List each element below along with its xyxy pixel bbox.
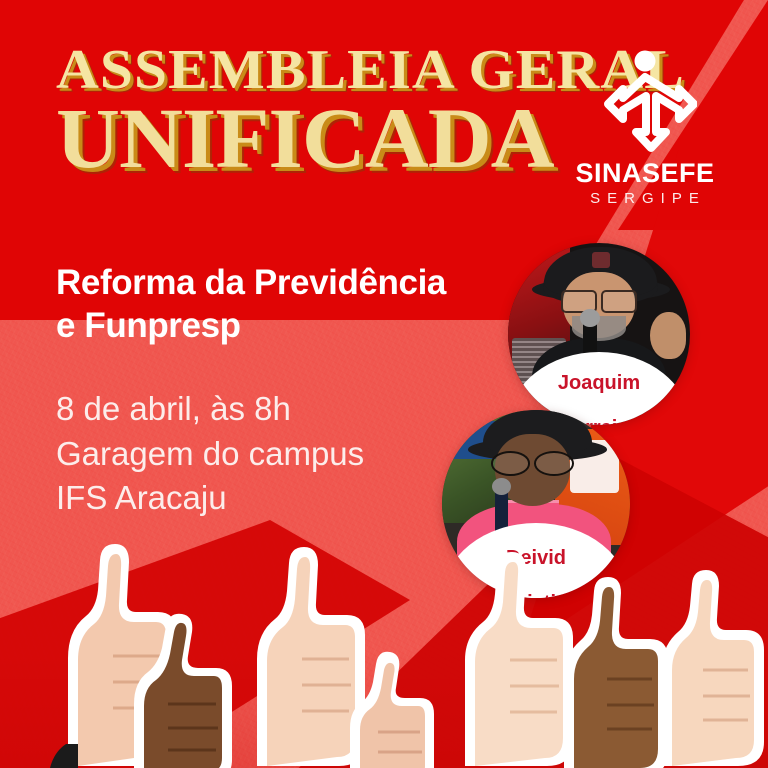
detail-campus: IFS Aracaju (56, 476, 486, 520)
speaker-first-name: Joaquim (558, 372, 640, 394)
logo-name-text: SINASEFE (570, 160, 720, 187)
poster-canvas: ASSEMBLEIA GERAL UNIFICADA SINASEFE SERG… (0, 0, 768, 768)
topic-line-2: e Funpresp (56, 305, 486, 348)
copy-block: Reforma da Previdência e Funpresp 8 de a… (56, 262, 486, 520)
topic-heading: Reforma da Previdência e Funpresp (56, 262, 486, 347)
headline-line-2: UNIFICADA (56, 99, 592, 178)
headline-block: ASSEMBLEIA GERAL UNIFICADA (56, 44, 576, 178)
thumbs-up-row (0, 518, 768, 768)
logo-subtitle-text: SERGIPE (570, 191, 720, 206)
thumbs-up-icon (620, 568, 768, 768)
sinasefe-logo: SINASEFE SERGIPE (570, 48, 720, 206)
topic-line-1: Reforma da Previdência (56, 262, 486, 305)
detail-date: 8 de abril, às 8h (56, 387, 486, 431)
detail-location: Garagem do campus (56, 432, 486, 476)
event-details: 8 de abril, às 8h Garagem do campus IFS … (56, 387, 486, 520)
sinasefe-figure-arrows-icon (593, 48, 697, 158)
speaker-portrait-joaquim: Joaquim Ferreira (508, 243, 690, 425)
